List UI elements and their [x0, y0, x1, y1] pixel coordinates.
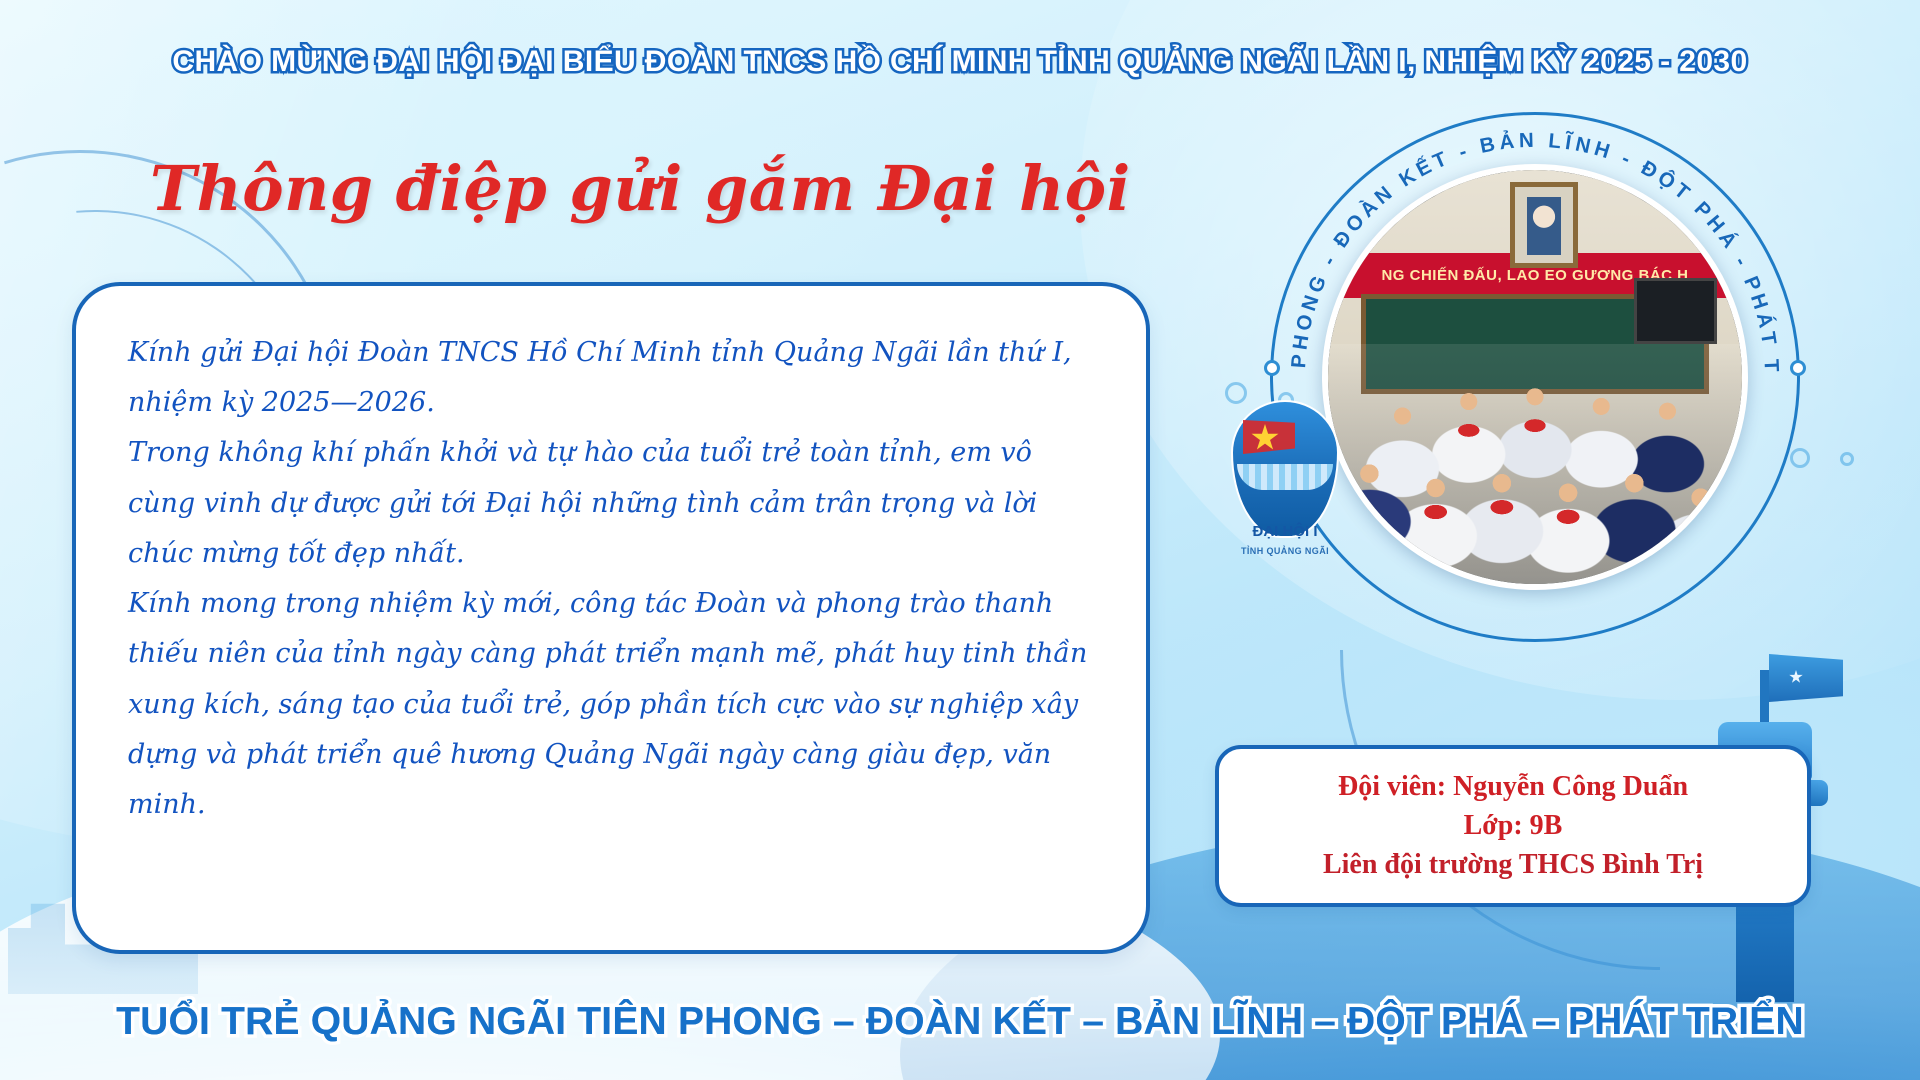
ring-dot-icon-right — [1790, 360, 1806, 376]
student-member-name: Đội viên: Nguyễn Công Duẩn — [1338, 771, 1688, 803]
message-paragraph-1: Kính gửi Đại hội Đoàn TNCS Hồ Chí Minh t… — [128, 328, 1094, 428]
bottom-banner-text: TUỔI TRẺ QUẢNG NGÃI TIÊN PHONG – ĐOÀN KẾ… — [116, 1000, 1804, 1044]
congress-emblem: ĐẠI HỘI I TỈNH QUẢNG NGÃI — [1215, 400, 1355, 560]
student-school: Liên đội trường THCS Bình Trị — [1323, 849, 1703, 881]
poster-canvas: CHÀO MỪNG ĐẠI HỘI ĐẠI BIỂU ĐOÀN TNCS HỒ … — [0, 0, 1920, 1080]
photo-screen — [1634, 278, 1717, 344]
classroom-photo: NG CHIẾN ĐẤU, LAO EO GƯƠNG BÁC H — [1322, 164, 1748, 590]
message-body: Kính gửi Đại hội Đoàn TNCS Hồ Chí Minh t… — [128, 328, 1094, 830]
top-banner: CHÀO MỪNG ĐẠI HỘI ĐẠI BIỂU ĐOÀN TNCS HỒ … — [0, 26, 1920, 98]
ring-dot-icon-left — [1264, 360, 1280, 376]
page-title: Thông điệp gửi gắm Đại hội — [150, 152, 1131, 225]
message-paragraph-3: Kính mong trong nhiệm kỳ mới, công tác Đ… — [128, 579, 1094, 830]
emblem-wave-icon — [1237, 464, 1333, 490]
bottom-banner: TUỔI TRẺ QUẢNG NGÃI TIÊN PHONG – ĐOÀN KẾ… — [0, 986, 1920, 1058]
photo-red-scarves — [1328, 344, 1742, 584]
student-class: Lớp: 9B — [1464, 810, 1563, 842]
photo-medallion: TIÊN PHONG - ĐOÀN KẾT - BẢN LĨNH - ĐỘT P… — [1270, 112, 1800, 642]
top-banner-text: CHÀO MỪNG ĐẠI HỘI ĐẠI BIỂU ĐOÀN TNCS HỒ … — [172, 45, 1747, 79]
emblem-label-sub: TỈNH QUẢNG NGÃI — [1215, 546, 1355, 556]
emblem-label-main: ĐẠI HỘI I — [1215, 523, 1355, 540]
message-paragraph-2: Trong không khí phấn khởi và tự hào của … — [128, 428, 1094, 579]
message-card: Kính gửi Đại hội Đoàn TNCS Hồ Chí Minh t… — [72, 282, 1150, 954]
bubble-ring-icon-4 — [1840, 452, 1854, 466]
ho-chi-minh-portrait-icon — [1510, 182, 1578, 268]
student-info-card: Đội viên: Nguyễn Công Duẩn Lớp: 9B Liên … — [1215, 745, 1811, 907]
